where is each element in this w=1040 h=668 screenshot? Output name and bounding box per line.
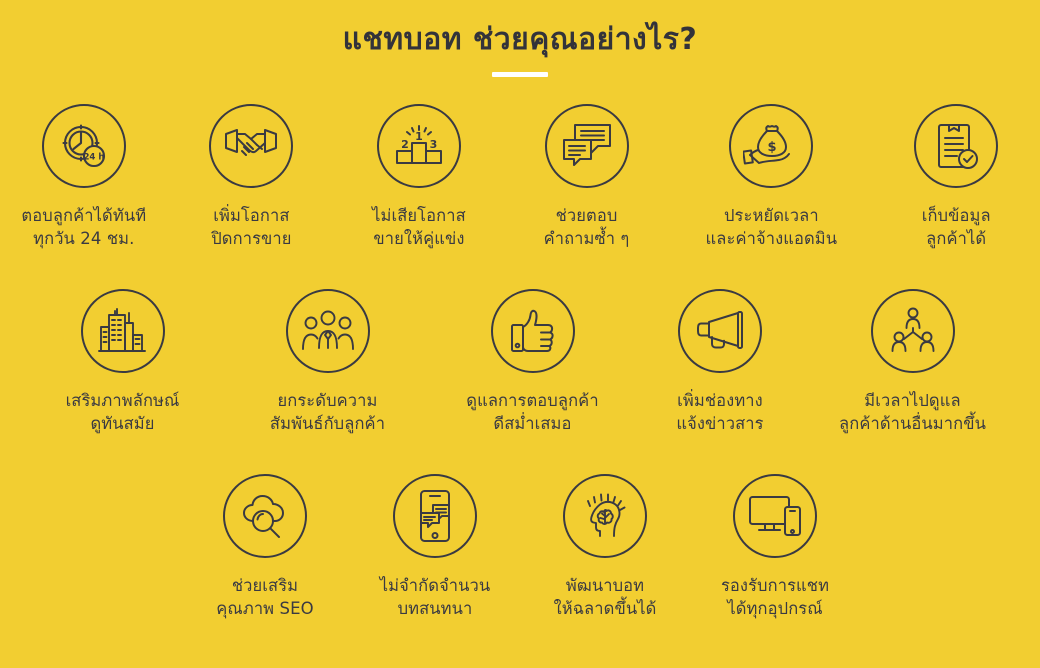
caption-line-1: ตอบลูกค้าได้ทันที [21, 206, 146, 225]
benefit-caption: ตอบลูกค้าได้ทันทีทุกวัน 24 ชม. [21, 204, 146, 251]
svg-text:1: 1 [415, 130, 423, 143]
caption-line-1: ช่วยตอบ [556, 206, 618, 225]
benefit-item[interactable]: มีเวลาไปดูแลลูกค้าด้านอื่นมากขึ้น [805, 289, 1020, 436]
clock-24h-icon: 24 h [42, 104, 126, 188]
caption-line-2: ลูกค้าด้านอื่นมากขึ้น [839, 414, 986, 433]
caption-line-2: ดูทันสมัย [90, 414, 154, 433]
svg-text:$: $ [768, 140, 777, 155]
benefit-caption: เก็บข้อมูลลูกค้าได้ [922, 204, 991, 251]
megaphone-icon [678, 289, 762, 373]
chat-bubbles-icon [545, 104, 629, 188]
caption-line-1: ช่วยเสริม [232, 576, 298, 595]
benefits-row-2: เสริมภาพลักษณ์ดูทันสมัย ยกระดับความสัมพั… [0, 289, 1040, 436]
header: แชทบอท ช่วยคุณอย่างไร? [0, 22, 1040, 77]
benefit-caption: ช่วยตอบคำถามซ้ำ ๆ [544, 204, 630, 251]
benefit-item[interactable]: ยกระดับความสัมพันธ์กับลูกค้า [225, 289, 430, 436]
benefits-row-3: ช่วยเสริมคุณภาพ SEO ไม่จำกัดจำนวนบทสนทนา [0, 474, 1040, 621]
clipboard-check-icon [914, 104, 998, 188]
infographic-page: แชทบอท ช่วยคุณอย่างไร? 24 h ตอบลูกค้าได้… [0, 0, 1040, 668]
benefit-caption: ดูแลการตอบลูกค้าดีสม่ำเสมอ [466, 389, 598, 436]
benefit-item[interactable]: 24 h ตอบลูกค้าได้ทันทีทุกวัน 24 ชม. [0, 104, 168, 251]
caption-line-2: ได้ทุกอุปกรณ์ [727, 599, 822, 618]
benefit-item[interactable]: รองรับการแชทได้ทุกอุปกรณ์ [690, 474, 860, 621]
caption-line-1: เสริมภาพลักษณ์ [66, 391, 180, 410]
benefit-caption: ไม่จำกัดจำนวนบทสนทนา [380, 574, 490, 621]
podium-winner-icon: 1 2 3 [377, 104, 461, 188]
benefit-caption: มีเวลาไปดูแลลูกค้าด้านอื่นมากขึ้น [839, 389, 986, 436]
mobile-chat-icon [393, 474, 477, 558]
people-group-icon [286, 289, 370, 373]
caption-line-1: ประหยัดเวลา [724, 206, 819, 225]
svg-text:3: 3 [430, 138, 438, 151]
caption-line-1: รองรับการแชท [721, 576, 829, 595]
caption-line-1: เพิ่มช่องทาง [677, 391, 763, 410]
cloud-search-icon [223, 474, 307, 558]
caption-line-1: พัฒนาบอท [566, 576, 644, 595]
benefits-row-1: 24 h ตอบลูกค้าได้ทันทีทุกวัน 24 ชม. เพิ่… [0, 104, 1040, 251]
svg-text:2: 2 [401, 138, 409, 151]
benefit-item[interactable]: เก็บข้อมูลลูกค้าได้ [872, 104, 1040, 251]
benefit-item[interactable]: ดูแลการตอบลูกค้าดีสม่ำเสมอ [430, 289, 635, 436]
caption-line-2: ทุกวัน 24 ชม. [33, 229, 134, 248]
caption-line-1: มีเวลาไปดูแล [864, 391, 960, 410]
multi-device-icon [733, 474, 817, 558]
caption-line-2: คำถามซ้ำ ๆ [544, 229, 630, 248]
caption-line-2: สัมพันธ์กับลูกค้า [270, 414, 385, 433]
caption-line-1: เก็บข้อมูล [922, 206, 991, 225]
benefit-caption: เพิ่มช่องทางแจ้งข่าวสาร [676, 389, 763, 436]
benefit-item[interactable]: เสริมภาพลักษณ์ดูทันสมัย [20, 289, 225, 436]
caption-line-2: คุณภาพ SEO [216, 599, 313, 618]
handshake-icon [209, 104, 293, 188]
caption-line-1: เพิ่มโอกาส [213, 206, 289, 225]
benefit-item[interactable]: ช่วยเสริมคุณภาพ SEO [180, 474, 350, 621]
caption-line-1: ไม่เสียโอกาส [372, 206, 466, 225]
city-buildings-icon [81, 289, 165, 373]
benefit-item[interactable]: $ ประหยัดเวลาและค่าจ้างแอดมิน [670, 104, 872, 251]
money-bag-hand-icon: $ [729, 104, 813, 188]
svg-text:24 h: 24 h [83, 152, 104, 162]
caption-line-2: แจ้งข่าวสาร [676, 414, 763, 433]
caption-line-2: ลูกค้าได้ [926, 229, 986, 248]
caption-line-2: ปิดการขาย [211, 229, 291, 248]
caption-line-2: บทสนทนา [398, 599, 473, 618]
benefit-caption: รองรับการแชทได้ทุกอุปกรณ์ [721, 574, 829, 621]
benefit-caption: ประหยัดเวลาและค่าจ้างแอดมิน [706, 204, 838, 251]
caption-line-2: ขายให้คู่แข่ง [373, 229, 464, 248]
caption-line-1: ไม่จำกัดจำนวน [380, 576, 490, 595]
benefit-caption: เสริมภาพลักษณ์ดูทันสมัย [66, 389, 180, 436]
title-underline [492, 72, 548, 77]
benefit-item[interactable]: ไม่จำกัดจำนวนบทสนทนา [350, 474, 520, 621]
caption-line-1: ดูแลการตอบลูกค้า [466, 391, 598, 410]
benefit-caption: พัฒนาบอทให้ฉลาดขึ้นได้ [554, 574, 657, 621]
page-title: แชทบอท ช่วยคุณอย่างไร? [0, 22, 1040, 58]
benefit-item[interactable]: 1 2 3 ไม่เสียโอกาสขายให้คู่แข่ง [335, 104, 503, 251]
caption-line-2: และค่าจ้างแอดมิน [706, 229, 838, 248]
benefit-item[interactable]: เพิ่มโอกาสปิดการขาย [168, 104, 336, 251]
caption-line-2: ให้ฉลาดขึ้นได้ [554, 599, 657, 618]
benefit-caption: เพิ่มโอกาสปิดการขาย [211, 204, 291, 251]
caption-line-2: ดีสม่ำเสมอ [493, 414, 571, 433]
benefit-caption: ช่วยเสริมคุณภาพ SEO [216, 574, 313, 621]
benefit-caption: ยกระดับความสัมพันธ์กับลูกค้า [270, 389, 385, 436]
team-hierarchy-icon [871, 289, 955, 373]
caption-line-1: ยกระดับความ [277, 391, 377, 410]
benefit-item[interactable]: ช่วยตอบคำถามซ้ำ ๆ [503, 104, 671, 251]
brain-head-icon [563, 474, 647, 558]
benefit-item[interactable]: เพิ่มช่องทางแจ้งข่าวสาร [635, 289, 805, 436]
thumbs-up-icon [491, 289, 575, 373]
benefit-item[interactable]: พัฒนาบอทให้ฉลาดขึ้นได้ [520, 474, 690, 621]
benefit-caption: ไม่เสียโอกาสขายให้คู่แข่ง [372, 204, 466, 251]
